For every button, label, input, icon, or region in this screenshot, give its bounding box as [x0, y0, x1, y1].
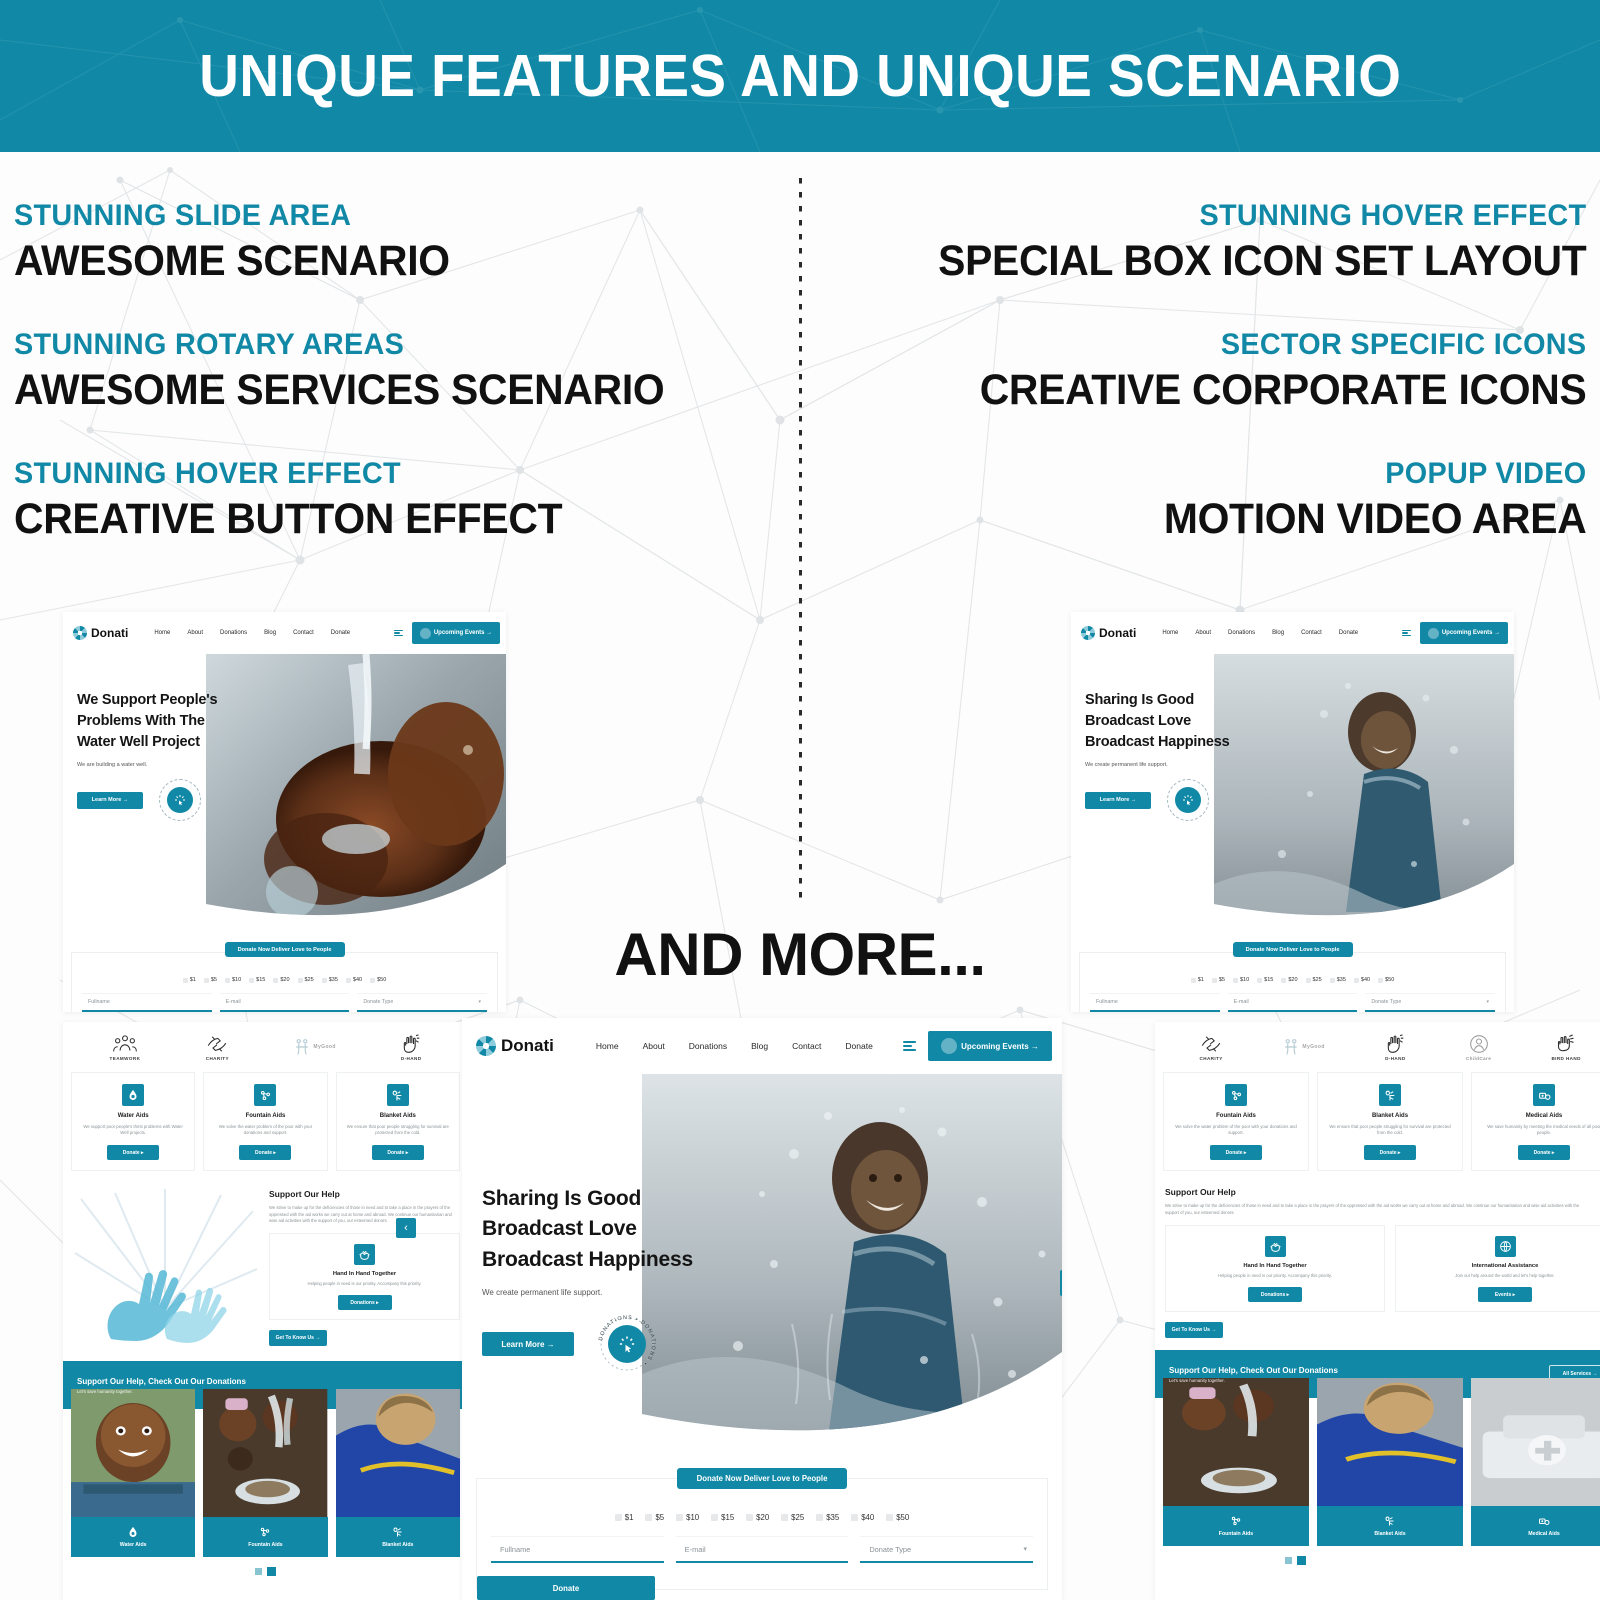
- hero-line-3: Water Well Project: [77, 734, 200, 750]
- gallery-photo-children-water: [203, 1389, 327, 1517]
- feature-list-left: STUNNING SLIDE AREA AWESOME SCENARIO STU…: [14, 198, 699, 584]
- amount-option[interactable]: $40: [346, 977, 362, 983]
- amount-option[interactable]: $1: [615, 1513, 634, 1522]
- feature-list-right: STUNNING HOVER EFFECT SPECIAL BOX ICON S…: [904, 198, 1586, 584]
- support-donations-button[interactable]: Donations ▸: [338, 1295, 392, 1310]
- d-hand-icon: [401, 1034, 421, 1054]
- support-card[interactable]: International Assistance Join our help a…: [1395, 1225, 1600, 1312]
- gallery-pagination-dots[interactable]: [1155, 1556, 1435, 1565]
- amount-option[interactable]: $25: [781, 1513, 804, 1522]
- donations-rotary-badge[interactable]: [159, 779, 201, 821]
- blanket-icon: [387, 1084, 409, 1106]
- feature-title: AWESOME SERVICES SCENARIO: [14, 366, 664, 415]
- amount-options[interactable]: $1 $5 $10 $15 $20 $25 $35 $40 $50: [72, 977, 497, 983]
- donate-fields: Fullname E-mail Donate Type ▾: [491, 1536, 1033, 1563]
- nav-item-blog[interactable]: Blog: [264, 630, 276, 636]
- learn-more-label: Learn More →: [501, 1340, 554, 1349]
- amount-options[interactable]: $1 $5 $10 $15 $20 $25 $35 $40 $50: [477, 1513, 1047, 1522]
- service-card[interactable]: Fountain Aids We solve the water problem…: [1163, 1072, 1309, 1171]
- fountain-icon: [254, 1084, 276, 1106]
- feature-title: AWESOME SCENARIO: [14, 237, 664, 286]
- support-section: Support Our Help We strive to make up fo…: [63, 1189, 468, 1349]
- hero-next-arrow-button[interactable]: ›: [1060, 1270, 1062, 1296]
- feature-item: STUNNING HOVER EFFECT CREATIVE BUTTON EF…: [14, 456, 699, 545]
- service-card[interactable]: Blanket Aids We ensure that poor people …: [336, 1072, 460, 1171]
- learn-more-button[interactable]: Learn More →: [1085, 792, 1151, 809]
- donations-gallery: Fountain Aids Blanket Aids: [1155, 1378, 1600, 1546]
- donations-badge-inner-icon: [1175, 787, 1201, 813]
- donati-flower-icon: [476, 1036, 496, 1056]
- amount-option[interactable]: $10: [1233, 977, 1249, 983]
- donate-form-tab: Donate Now Deliver Love to People: [1233, 942, 1353, 957]
- blanket-icon: [392, 1526, 404, 1538]
- nav-item-donations[interactable]: Donations: [1228, 630, 1255, 636]
- helping-hands-graphic: [71, 1189, 259, 1349]
- partner-mygood: MyGood: [294, 1038, 335, 1056]
- hero-line-3: Broadcast Happiness: [1085, 734, 1229, 750]
- d-hand-icon: [1385, 1034, 1405, 1054]
- donate-form: Donate Now Deliver Love to People $1 $5 …: [1079, 952, 1506, 1012]
- donate-form: Donate Now Deliver Love to People $1 $5 …: [71, 952, 498, 1012]
- nav-item-home[interactable]: Home: [596, 1041, 619, 1051]
- donations-gallery: Water Aids Founta: [63, 1389, 468, 1557]
- feature-item: POPUP VIDEO MOTION VIDEO AREA: [904, 456, 1586, 545]
- card-donate-button[interactable]: Donate ▸: [1364, 1145, 1416, 1160]
- get-to-know-us-button[interactable]: Get To Know Us →: [269, 1330, 327, 1346]
- nav-item-home[interactable]: Home: [154, 630, 170, 636]
- nav-item-donate[interactable]: Donate: [331, 630, 350, 636]
- band-subtitle: Let's save humanity together.: [1169, 1378, 1338, 1383]
- amount-option[interactable]: $5: [1212, 977, 1225, 983]
- gallery-photo-blanket-child: [336, 1389, 460, 1517]
- feature-title: CREATIVE BUTTON EFFECT: [14, 495, 664, 544]
- nav-menu[interactable]: Home About Donations Blog Contact Donate: [1162, 630, 1358, 636]
- feature-title: SPECIAL BOX ICON SET LAYOUT: [938, 237, 1586, 286]
- gallery-item[interactable]: Blanket Aids: [336, 1389, 460, 1557]
- band-title: Support Our Help, Check Out Our Donation…: [1169, 1366, 1338, 1375]
- amount-option[interactable]: $50: [1378, 977, 1394, 983]
- feature-subtitle: POPUP VIDEO: [931, 456, 1586, 491]
- card-donate-button[interactable]: Donate ▸: [1518, 1145, 1570, 1160]
- nav-item-about[interactable]: About: [187, 630, 203, 636]
- amount-option[interactable]: $50: [370, 977, 386, 983]
- brand-name: Donati: [501, 1036, 554, 1056]
- upcoming-events-button[interactable]: Upcoming Events →: [928, 1031, 1052, 1061]
- nav-item-home[interactable]: Home: [1162, 630, 1178, 636]
- partner-dhand: D-HAND: [1385, 1034, 1406, 1061]
- feature-title: MOTION VIDEO AREA: [938, 495, 1586, 544]
- feature-item: STUNNING HOVER EFFECT SPECIAL BOX ICON S…: [904, 198, 1586, 287]
- nav-item-donate[interactable]: Donate: [845, 1041, 872, 1051]
- band-title: Support Our Help, Check Out Our Donation…: [77, 1377, 246, 1386]
- header-banner: UNIQUE FEATURES AND UNIQUE SCENARIO: [0, 0, 1600, 152]
- service-cards: Water Aids We support poor people's thir…: [63, 1072, 468, 1171]
- support-section: Support Our Help We strive to make up fo…: [1155, 1171, 1600, 1338]
- amount-option[interactable]: $1: [1191, 977, 1204, 983]
- gallery-pagination-dots[interactable]: [63, 1567, 468, 1576]
- donate-fields: Fullname E-mail Donate Type ▾: [1090, 993, 1495, 1012]
- donati-flower-icon: [1081, 626, 1095, 640]
- dotted-divider: [799, 178, 802, 898]
- service-cards: Fountain Aids We solve the water problem…: [1155, 1072, 1600, 1171]
- donate-form: Donate Now Deliver Love to People $1 $5 …: [476, 1478, 1048, 1590]
- mygood-icon: [294, 1038, 310, 1056]
- feature-item: STUNNING SLIDE AREA AWESOME SCENARIO: [14, 198, 699, 287]
- brand-logo[interactable]: Donati: [1081, 626, 1136, 640]
- amount-option[interactable]: $20: [1281, 977, 1297, 983]
- dot-2[interactable]: [267, 1567, 276, 1576]
- donati-flower-icon: [73, 626, 87, 640]
- medical-icon: [1533, 1084, 1555, 1106]
- gallery-item[interactable]: Medical Aids: [1471, 1378, 1600, 1546]
- service-card[interactable]: Fountain Aids We solve the water problem…: [203, 1072, 327, 1171]
- gallery-label: Blanket Aids: [336, 1517, 460, 1557]
- support-card[interactable]: Hand In Hand Together Helping people in …: [269, 1233, 460, 1320]
- fountain-icon: [1230, 1515, 1242, 1527]
- partner-bird-hand: BIRD HAND: [1551, 1034, 1580, 1061]
- water-drop-icon: [127, 1526, 139, 1538]
- support-title: Support Our Help: [269, 1189, 460, 1199]
- blanket-icon: [1384, 1515, 1396, 1527]
- nav-item-donations[interactable]: Donations: [689, 1041, 727, 1051]
- bird-hand-icon: [1556, 1034, 1576, 1054]
- email-input[interactable]: E-mail: [220, 993, 350, 1012]
- feature-item: STUNNING ROTARY AREAS AWESOME SERVICES S…: [14, 327, 699, 416]
- nav-item-donations[interactable]: Donations: [220, 630, 247, 636]
- mockup-top-left: Donati Home About Donations Blog Contact…: [63, 612, 506, 1012]
- nav-item-donate[interactable]: Donate: [1339, 630, 1358, 636]
- email-input[interactable]: E-mail: [676, 1536, 849, 1563]
- water-drop-icon: [122, 1084, 144, 1106]
- partner-mygood: MyGood: [1283, 1038, 1324, 1056]
- nav-item-about[interactable]: About: [643, 1041, 665, 1051]
- fountain-icon: [1225, 1084, 1247, 1106]
- amount-option[interactable]: $50: [886, 1513, 909, 1522]
- amount-option[interactable]: $10: [225, 977, 241, 983]
- hero-slide-water: We Support People's Problems With The Wa…: [63, 654, 506, 934]
- partner-charity: CHARITY: [205, 1034, 229, 1061]
- nav-menu[interactable]: Home About Donations Blog Contact Donate: [154, 630, 350, 636]
- amount-option[interactable]: $20: [746, 1513, 769, 1522]
- charity-hands-icon: [205, 1034, 229, 1054]
- upcoming-events-label: Upcoming Events →: [434, 630, 492, 636]
- feature-title: CREATIVE CORPORATE ICONS: [938, 366, 1586, 415]
- gallery-item[interactable]: Fountain Aids: [1163, 1378, 1309, 1546]
- mockup-top-right: Donati Home About Donations Blog Contact…: [1071, 612, 1514, 1012]
- upcoming-events-label: Upcoming Events →: [1442, 630, 1500, 636]
- hamburger-menu-icon[interactable]: [903, 1041, 916, 1051]
- support-donations-button[interactable]: Donations ▸: [1248, 1287, 1302, 1302]
- site-nav: Donati Home About Donations Blog Contact…: [63, 612, 506, 654]
- amount-option[interactable]: $15: [1257, 977, 1273, 983]
- amount-option[interactable]: $5: [204, 977, 217, 983]
- hero-subtitle: We are building a water well.: [77, 762, 263, 768]
- amount-option[interactable]: $15: [249, 977, 265, 983]
- donate-form-tab: Donate Now Deliver Love to People: [677, 1468, 847, 1489]
- hero-subtitle: We create permanent life support.: [482, 1288, 762, 1297]
- gallery-photo-blanket-child: [1317, 1378, 1463, 1506]
- gallery-item[interactable]: Fountain Aids: [203, 1389, 327, 1557]
- amount-option[interactable]: $1: [183, 977, 196, 983]
- partner-logos: CHARITY MyGood D-HAND: [1155, 1022, 1600, 1072]
- amount-option[interactable]: $25: [298, 977, 314, 983]
- fullname-input[interactable]: Fullname: [1090, 993, 1220, 1012]
- gallery-label: Medical Aids: [1471, 1506, 1600, 1546]
- learn-more-label: Learn More →: [1100, 797, 1137, 803]
- hero-slide-sharing: Sharing Is Good Broadcast Love Broadcast…: [1071, 654, 1514, 934]
- hand-in-hand-icon: [354, 1244, 375, 1265]
- partner-charity: CHARITY: [1199, 1034, 1223, 1061]
- dot-1[interactable]: [1285, 1557, 1292, 1564]
- mockup-bottom-right: CHARITY MyGood D-HAND: [1155, 1022, 1600, 1600]
- support-events-button[interactable]: Events ▸: [1478, 1287, 1532, 1302]
- hero-line-2: Problems With The: [77, 713, 205, 729]
- amount-option[interactable]: $25: [1306, 977, 1322, 983]
- get-to-know-us-button[interactable]: Get To Know Us →: [1165, 1322, 1223, 1338]
- charity-hands-icon: [1199, 1034, 1223, 1054]
- hero-line-1: Sharing Is Good: [1085, 692, 1194, 708]
- amount-option[interactable]: $5: [645, 1513, 664, 1522]
- feature-subtitle: STUNNING HOVER EFFECT: [14, 456, 671, 491]
- childcare-icon: [1469, 1034, 1489, 1054]
- partner-dhand: D-HAND: [401, 1034, 422, 1061]
- gallery-photo-smiling-boy: [71, 1389, 195, 1517]
- fountain-icon: [259, 1526, 271, 1538]
- email-input[interactable]: E-mail: [1228, 993, 1358, 1012]
- partner-teamwork: TEAMWORK: [110, 1034, 141, 1061]
- chevron-down-icon: ▾: [1487, 999, 1490, 1005]
- hamburger-menu-icon[interactable]: [394, 630, 403, 637]
- learn-more-label: Learn More →: [92, 797, 129, 803]
- brand-logo[interactable]: Donati: [476, 1036, 554, 1056]
- brand-name: Donati: [91, 626, 128, 640]
- dot-1[interactable]: [255, 1568, 262, 1575]
- amount-option[interactable]: $35: [1330, 977, 1346, 983]
- dot-2[interactable]: [1297, 1556, 1306, 1565]
- donate-type-select[interactable]: Donate Type ▾: [357, 993, 487, 1012]
- chevron-down-icon: ▾: [1024, 1545, 1028, 1553]
- hero-slide-sharing: Sharing Is Good Broadcast Love Broadcast…: [462, 1074, 1062, 1454]
- feature-subtitle: STUNNING SLIDE AREA: [14, 198, 671, 233]
- amount-option[interactable]: $15: [711, 1513, 734, 1522]
- donate-fields: Fullname E-mail Donate Type ▾: [82, 993, 487, 1012]
- upcoming-events-label: Upcoming Events →: [961, 1042, 1039, 1051]
- nav-item-about[interactable]: About: [1195, 630, 1211, 636]
- partner-childcare: ChildCare: [1466, 1034, 1491, 1061]
- feature-subtitle: SECTOR SPECIFIC ICONS: [931, 327, 1586, 362]
- donations-rotary-badge[interactable]: [1167, 779, 1209, 821]
- mygood-icon: [1283, 1038, 1299, 1056]
- hamburger-menu-icon[interactable]: [1402, 630, 1411, 637]
- partner-logos: TEAMWORK CHARITY MyGood: [63, 1022, 468, 1072]
- feature-subtitle: STUNNING HOVER EFFECT: [931, 198, 1586, 233]
- card-donate-button[interactable]: Donate ▸: [372, 1145, 424, 1160]
- amount-option[interactable]: $10: [676, 1513, 699, 1522]
- support-card[interactable]: Hand In Hand Together Helping people in …: [1165, 1225, 1385, 1312]
- donations-badge-inner-icon: [167, 787, 193, 813]
- amount-option[interactable]: $20: [273, 977, 289, 983]
- service-card[interactable]: Medical Aids We save humanity by meeting…: [1471, 1072, 1600, 1171]
- gallery-photo-medical: [1471, 1378, 1600, 1506]
- amount-option[interactable]: $40: [851, 1513, 874, 1522]
- gallery-photo-children-water: [1163, 1378, 1309, 1506]
- nav-item-contact[interactable]: Contact: [792, 1041, 821, 1051]
- blanket-icon: [1379, 1084, 1401, 1106]
- nav-menu[interactable]: Home About Donations Blog Contact Donate: [596, 1041, 873, 1051]
- medical-icon: [1538, 1515, 1550, 1527]
- donations-rotary-badge[interactable]: DONATIONS • DONATIONS •: [596, 1313, 658, 1375]
- brand-logo[interactable]: Donati: [73, 626, 128, 640]
- support-title: Support Our Help: [1165, 1187, 1600, 1197]
- amount-options[interactable]: $1 $5 $10 $15 $20 $25 $35 $40 $50: [1080, 977, 1505, 983]
- hero-line-3: Broadcast Happiness: [482, 1248, 693, 1271]
- feature-item: SECTOR SPECIFIC ICONS CREATIVE CORPORATE…: [904, 327, 1586, 416]
- events-badge-icon: [1428, 628, 1439, 639]
- gallery-label: Fountain Aids: [1163, 1506, 1309, 1546]
- events-badge-icon: [420, 628, 431, 639]
- amount-option[interactable]: $35: [816, 1513, 839, 1522]
- gallery-item[interactable]: Water Aids: [71, 1389, 195, 1557]
- nav-item-blog[interactable]: Blog: [1272, 630, 1284, 636]
- nav-item-blog[interactable]: Blog: [751, 1041, 768, 1051]
- card-donate-button[interactable]: Donate ▸: [1210, 1145, 1262, 1160]
- services-prev-arrow-button[interactable]: ‹: [396, 1218, 416, 1238]
- feature-subtitle: STUNNING ROTARY AREAS: [14, 327, 671, 362]
- hero-line-1: Sharing Is Good: [482, 1187, 641, 1210]
- service-card[interactable]: Water Aids We support poor people's thir…: [71, 1072, 195, 1171]
- gallery-label: Fountain Aids: [203, 1517, 327, 1557]
- nav-item-contact[interactable]: Contact: [1301, 630, 1322, 636]
- events-badge-icon: [941, 1038, 957, 1054]
- donate-form-tab: Donate Now Deliver Love to People: [225, 942, 345, 957]
- brand-name: Donati: [1099, 626, 1136, 640]
- donate-submit-button[interactable]: Donate: [477, 1576, 655, 1600]
- hero-line-2: Broadcast Love: [482, 1217, 637, 1240]
- donate-type-select[interactable]: Donate Type ▾: [1365, 993, 1495, 1012]
- upcoming-events-button[interactable]: Upcoming Events →: [412, 622, 500, 644]
- support-paragraph: We strive to make up for the deficiencie…: [1165, 1203, 1585, 1216]
- amount-option[interactable]: $35: [322, 977, 338, 983]
- hero-line-2: Broadcast Love: [1085, 713, 1191, 729]
- card-donate-button[interactable]: Donate ▸: [239, 1145, 291, 1160]
- hand-in-hand-icon: [1265, 1236, 1286, 1257]
- teamwork-icon: [112, 1034, 138, 1054]
- band-subtitle: Let's save humanity together.: [77, 1389, 246, 1394]
- learn-more-button[interactable]: Learn More →: [77, 792, 143, 809]
- gallery-label: Water Aids: [71, 1517, 195, 1557]
- poster-root: UNIQUE FEATURES AND UNIQUE SCENARIO STUN…: [0, 0, 1600, 1600]
- hero-line-1: We Support People's: [77, 692, 217, 708]
- amount-option[interactable]: $40: [1354, 977, 1370, 983]
- site-nav: Donati Home About Donations Blog Contact…: [1071, 612, 1514, 654]
- fullname-input[interactable]: Fullname: [491, 1536, 664, 1563]
- hero-subtitle: We create permanent life support.: [1085, 762, 1281, 768]
- support-paragraph: We strive to make up for the deficiencie…: [269, 1205, 460, 1224]
- donate-type-select[interactable]: Donate Type ▾: [860, 1536, 1033, 1563]
- mockup-bottom-left: TEAMWORK CHARITY MyGood: [63, 1022, 468, 1600]
- fullname-input[interactable]: Fullname: [82, 993, 212, 1012]
- mockup-center-large: Donati Home About Donations Blog Contact…: [462, 1018, 1062, 1600]
- site-nav: Donati Home About Donations Blog Contact…: [462, 1018, 1062, 1074]
- gallery-label: Blanket Aids: [1317, 1506, 1463, 1546]
- gallery-item[interactable]: Blanket Aids: [1317, 1378, 1463, 1546]
- nav-item-contact[interactable]: Contact: [293, 630, 314, 636]
- page-title: UNIQUE FEATURES AND UNIQUE SCENARIO: [199, 42, 1401, 110]
- globe-icon: [1495, 1236, 1516, 1257]
- learn-more-button[interactable]: Learn More →: [482, 1332, 574, 1356]
- card-donate-button[interactable]: Donate ▸: [107, 1145, 159, 1160]
- chevron-down-icon: ▾: [479, 999, 482, 1005]
- service-card[interactable]: Blanket Aids We ensure that poor people …: [1317, 1072, 1463, 1171]
- upcoming-events-button[interactable]: Upcoming Events →: [1420, 622, 1508, 644]
